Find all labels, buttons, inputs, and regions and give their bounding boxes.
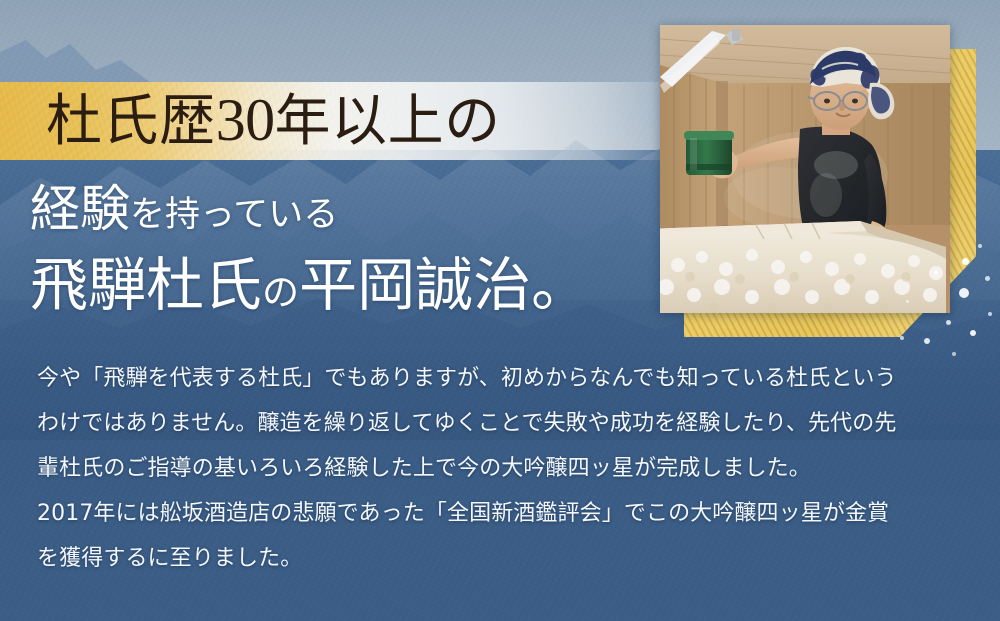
body-line: わけではありません。醸造を繰り返してゆくことで失敗や成功を経験したり、先代の先 [37, 401, 977, 446]
headline-line1-big: 経験 [30, 181, 130, 237]
promo-banner: 杜氏歴30年以上の 経験を持っている 飛騨杜氏の平岡誠治。 今や「飛騨を代表する… [0, 0, 1000, 621]
headline-line2-big2: 平岡誠治 [299, 253, 531, 318]
body-line: 輩杜氏のご指導の基いろいろ経験した上で今の大吟醸四ッ星が完成しました。 [37, 446, 977, 491]
headline-main-line-1: 経験を持っている [30, 175, 670, 249]
headline-top: 杜氏歴30年以上の [46, 84, 501, 158]
headline-line1-small: を持っている [130, 195, 338, 234]
headline-top-number: 30 [216, 87, 275, 153]
body-line: 今や「飛騨を代表する杜氏」でもありますが、初めからなんでも知っている杜氏という [37, 356, 977, 401]
photo-block [660, 25, 1000, 345]
brewery-photo [660, 25, 950, 313]
headline-line2-small: の [262, 273, 299, 314]
body-paragraph: 今や「飛騨を代表する杜氏」でもありますが、初めからなんでも知っている杜氏という … [37, 356, 977, 581]
brewery-photo-illustration [660, 25, 950, 313]
headline-main-line-2: 飛騨杜氏の平岡誠治。 [30, 249, 670, 331]
headline-top-prefix: 杜氏歴 [46, 91, 216, 153]
headline-line2-big1: 飛騨杜氏 [30, 253, 262, 318]
body-line: 2017年には舩坂酒造店の悲願であった「全国新酒鑑評会」でこの大吟醸四ッ星が金賞 [37, 491, 977, 536]
headline-top-suffix: 年以上の [275, 91, 501, 153]
headline-main: 経験を持っている 飛騨杜氏の平岡誠治。 [30, 175, 670, 331]
body-line: を獲得するに至りました。 [37, 536, 977, 581]
headline-line2-end: 。 [531, 253, 589, 318]
